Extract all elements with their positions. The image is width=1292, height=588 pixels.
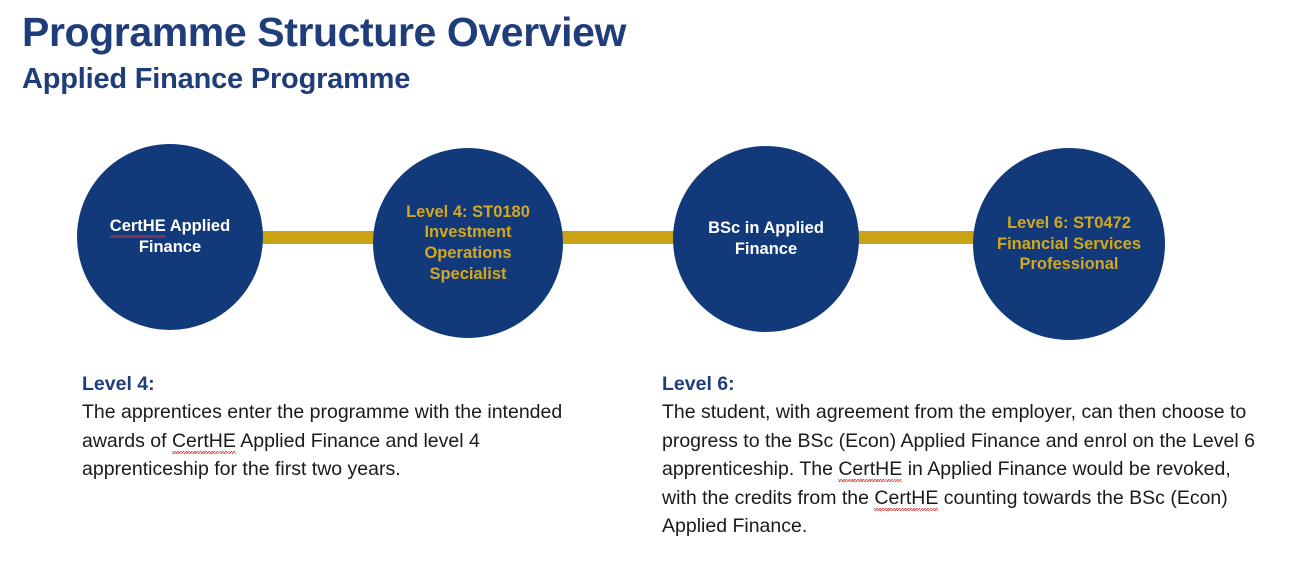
spellcheck-certhe-level6-second: CertHE (874, 487, 938, 509)
description-level4: Level 4:The apprentices enter the progra… (82, 370, 582, 484)
node-level6-label: Level 6: ST0472 Financial Services Profe… (973, 213, 1165, 275)
spellcheck-certhe-level4: CertHE (172, 430, 236, 452)
node-level4-label: Level 4: ST0180 Investment Operations Sp… (373, 202, 563, 285)
connector-bsc-to-level6 (843, 231, 987, 244)
node-certhe-label: CertHE Applied Finance (77, 216, 263, 257)
description-level4-heading: Level 4: (82, 370, 582, 398)
spellcheck-certhe-level6-first: CertHE (838, 458, 902, 480)
node-level4-st0180[interactable]: Level 4: ST0180 Investment Operations Sp… (373, 148, 563, 338)
node-certhe-applied-finance[interactable]: CertHE Applied Finance (77, 144, 263, 330)
node-level6-st0472[interactable]: Level 6: ST0472 Financial Services Profe… (973, 148, 1165, 340)
spellcheck-certhe: CertHE (110, 217, 166, 235)
node-bsc-applied-finance[interactable]: BSc in Applied Finance (673, 146, 859, 332)
node-bsc-label: BSc in Applied Finance (673, 218, 859, 259)
connector-level4-to-bsc (551, 231, 687, 244)
connector-certhe-to-level4 (247, 231, 389, 244)
description-level6: Level 6:The student, with agreement from… (662, 370, 1262, 541)
description-level6-heading: Level 6: (662, 370, 1262, 398)
